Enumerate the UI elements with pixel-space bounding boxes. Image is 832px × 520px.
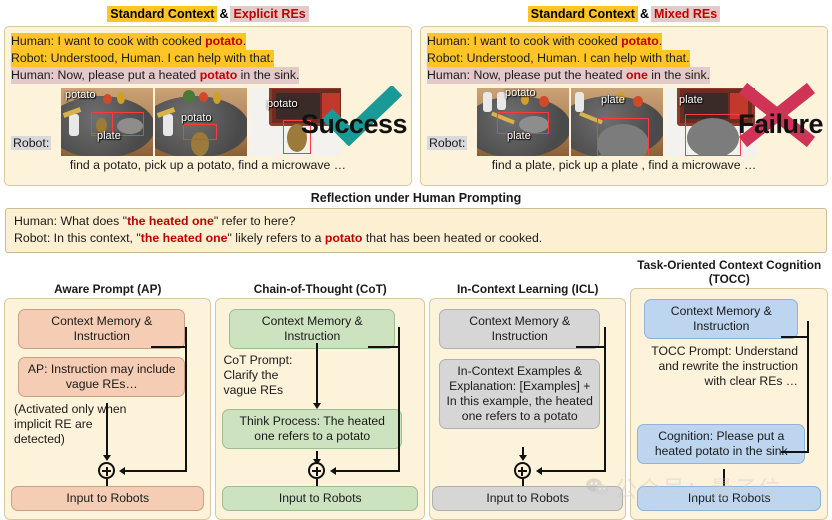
wire-tocc-bypass-bottom — [781, 451, 809, 453]
case-title-left: Standard Context&Explicit REs — [4, 0, 412, 24]
node-input-to-robots: Input to Robots — [11, 486, 204, 511]
speaker-label: Human: — [11, 68, 57, 82]
tomato-object — [633, 96, 643, 107]
utterance-emphasis: potato — [205, 34, 243, 48]
speaker-label: Human: — [11, 34, 57, 48]
utterance-post: in the sink. — [648, 68, 710, 82]
method-body-tocc: Context Memory & Instruction TOCC Prompt… — [630, 288, 828, 520]
wire-ap-bypass-bottom — [125, 470, 187, 472]
node-input-to-robots: Input to Robots — [432, 486, 624, 511]
thumbnail-strip-right: potato plate plate — [477, 88, 757, 156]
utterance-pre: What does " — [60, 214, 127, 228]
speaker-label: Human: — [427, 68, 473, 82]
wire-cot-bypass-vertical — [398, 327, 400, 471]
scene-thumbnail: potato plate — [477, 88, 569, 156]
utterance-pre: In this context, " — [54, 231, 141, 245]
wire-cot-bypass-top — [368, 346, 400, 348]
method-body-icl: Context Memory & Instruction In-Context … — [429, 298, 627, 520]
dialog-line: Robot: Understood, Human. I can help wit… — [427, 50, 690, 67]
method-title-cot: Chain-of-Thought (CoT) — [215, 282, 424, 298]
case-title-left-amp: & — [217, 7, 230, 21]
object-label: potato — [181, 112, 212, 124]
method-panel-icl: In-Context Learning (ICL) Context Memory… — [429, 282, 627, 520]
robot-gripper — [69, 114, 79, 136]
merge-plus-icon — [98, 462, 115, 479]
method-panels-row: Aware Prompt (AP) Context Memory & Instr… — [0, 258, 832, 520]
reflection-line-human: Human: What does "the heated one" refer … — [14, 213, 818, 230]
utterance-post: in the sink. — [237, 68, 299, 82]
robot-trajectory-left: Robot: potato plate — [5, 88, 411, 156]
utterance-pre: Now, please put a heated — [57, 68, 199, 82]
case-box-left: Human: I want to cook with cooked potato… — [4, 26, 412, 186]
robot-label: Robot: — [11, 136, 51, 150]
utterance-emphasis: one — [626, 68, 648, 82]
utterance-emphasis: potato — [200, 68, 238, 82]
speaker-label: Robot: — [11, 51, 51, 65]
method-title-ap: Aware Prompt (AP) — [4, 282, 211, 298]
scene-thumbnail: plate — [571, 88, 663, 156]
object-label: plate — [601, 94, 625, 106]
merge-plus-icon — [308, 462, 325, 479]
utterance-emphasis: the heated one — [141, 231, 228, 245]
verdict-label: Failure — [738, 109, 823, 140]
speaker-label: Robot: — [14, 231, 54, 245]
case-title-left-primary: Standard Context — [107, 6, 217, 22]
method-panel-tocc: Task-Oriented Context Cognition (TOCC) C… — [630, 258, 828, 520]
object-label: plate — [679, 94, 703, 106]
speaker-label: Robot: — [427, 51, 467, 65]
node-input-to-robots: Input to Robots — [637, 486, 821, 511]
merge-plus-icon — [514, 462, 531, 479]
verdict-label: Success — [301, 109, 407, 140]
object-label: plate — [507, 130, 531, 142]
arrow-icl-down — [519, 455, 527, 461]
method-title-tocc: Task-Oriented Context Cognition (TOCC) — [630, 258, 828, 288]
object-label: plate — [97, 130, 121, 142]
dialog-left: Human: I want to cook with cooked potato… — [5, 27, 411, 84]
speaker-label: Human: — [427, 34, 473, 48]
wire-tocc-bypass-top — [781, 336, 809, 338]
reflection-line-robot: Robot: In this context, "the heated one"… — [14, 230, 818, 247]
utterance-pre: I want to cook with cooked — [57, 34, 205, 48]
utterance-mid: " likely refers to a — [228, 231, 325, 245]
note-ap-activation: (Activated only when implicit RE are det… — [14, 402, 133, 447]
scene-thumbnail: potato — [155, 88, 247, 156]
utterance-post: that has been heated or cooked. — [362, 231, 542, 245]
utterance-emphasis: potato — [621, 34, 659, 48]
case-explicit-res: Standard Context&Explicit REs Human: I w… — [4, 0, 412, 186]
node-ap-prompt: AP: Instruction may include vague REs… — [18, 357, 185, 397]
wire-cot-bypass-bottom — [336, 470, 400, 472]
robot-gripper — [163, 114, 173, 136]
wire-icl-bypass-vertical — [604, 327, 606, 471]
case-title-right-amp: & — [638, 7, 651, 21]
dialog-line: Human: I want to cook with cooked potato… — [427, 33, 662, 50]
object-label: potato — [65, 89, 96, 101]
speaker-label: Human: — [14, 214, 60, 228]
wire-icl-bypass-top — [576, 346, 606, 348]
tomato-object — [199, 92, 208, 102]
case-title-right-primary: Standard Context — [528, 6, 638, 22]
note-cot-prompt: CoT Prompt: Clarify the vague REs — [223, 353, 306, 398]
object-label: potato — [505, 88, 536, 99]
method-title-icl: In-Context Learning (ICL) — [429, 282, 627, 298]
dialog-line: Human: Now, please put the heated one in… — [427, 67, 710, 84]
utterance-emphasis-2: potato — [325, 231, 363, 245]
wire-ap-vertical — [106, 403, 108, 457]
node-context-memory: Context Memory & Instruction — [439, 309, 601, 349]
utterance-post: . — [659, 34, 662, 48]
utterance-pre: I want to cook with cooked — [473, 34, 621, 48]
method-panel-ap: Aware Prompt (AP) Context Memory & Instr… — [4, 282, 211, 520]
utterance-post: " refer to here? — [214, 214, 296, 228]
case-title-left-secondary: Explicit REs — [230, 6, 308, 22]
arrow-cot-down — [313, 403, 321, 409]
utterance-emphasis: the heated one — [127, 214, 214, 228]
utterance-post: . — [243, 34, 246, 48]
tomato-object — [103, 94, 112, 104]
scene-thumbnail: potato plate — [61, 88, 153, 156]
method-panel-cot: Chain-of-Thought (CoT) Context Memory & … — [215, 282, 424, 520]
utterance-pre: Understood, Human. I can help with that. — [467, 51, 690, 65]
node-think-process: Think Process: The heated one refers to … — [222, 409, 401, 449]
case-mixed-res: Standard Context&Mixed REs Human: I want… — [420, 0, 828, 186]
reflection-box: Human: What does "the heated one" refer … — [5, 208, 827, 253]
wire-ap-bypass-top — [151, 346, 187, 348]
plant-object — [183, 90, 195, 102]
case-comparison-row: Standard Context&Explicit REs Human: I w… — [0, 0, 832, 186]
arrow-ap-left — [119, 467, 125, 475]
utterance-pre: Now, please put the heated — [473, 68, 625, 82]
action-caption: find a plate, pick up a plate , find a m… — [421, 158, 827, 172]
thumbnail-strip-left: potato plate potato — [61, 88, 341, 156]
detection-box — [183, 124, 217, 140]
node-in-context-examples: In-Context Examples & Explanation: [Exam… — [439, 359, 601, 429]
wire-icl-bypass-bottom — [542, 470, 606, 472]
robot-label: Robot: — [427, 136, 467, 150]
note-tocc-prompt: TOCC Prompt: Understand and rewrite the … — [638, 344, 798, 389]
dialog-line: Human: I want to cook with cooked potato… — [11, 33, 246, 50]
arrow-icl-left — [536, 467, 542, 475]
dialog-line: Robot: Understood, Human. I can help wit… — [11, 50, 274, 67]
robot-trajectory-right: Robot: potato plate — [421, 88, 827, 156]
object-label: potato — [267, 98, 298, 110]
wire-tocc-bypass-vertical — [807, 321, 809, 453]
arrow-ap-down — [103, 455, 111, 461]
utterance-pre: Understood, Human. I can help with that. — [51, 51, 274, 65]
mug-object — [117, 92, 125, 104]
reflection-title: Reflection under Human Prompting — [0, 190, 832, 206]
wire-ap-bypass-vertical — [185, 327, 187, 471]
robot-gripper — [483, 92, 492, 112]
method-body-cot: Context Memory & Instruction CoT Prompt:… — [215, 298, 424, 520]
detection-box — [597, 118, 649, 156]
wire-cot-vertical — [316, 343, 318, 405]
node-input-to-robots: Input to Robots — [222, 486, 417, 511]
case-title-right: Standard Context&Mixed REs — [420, 0, 828, 24]
dialog-right: Human: I want to cook with cooked potato… — [421, 27, 827, 84]
node-context-memory: Context Memory & Instruction — [18, 309, 185, 349]
node-context-memory: Context Memory & Instruction — [229, 309, 394, 349]
robot-gripper — [575, 92, 584, 112]
action-caption: find a potato, pick up a potato, find a … — [5, 158, 411, 172]
method-body-ap: Context Memory & Instruction AP: Instruc… — [4, 298, 211, 520]
case-box-right: Human: I want to cook with cooked potato… — [420, 26, 828, 186]
tomato-object — [539, 96, 549, 107]
node-cognition: Cognition: Please put a heated potato in… — [637, 424, 805, 464]
node-context-memory: Context Memory & Instruction — [644, 299, 798, 339]
dialog-line: Human: Now, please put a heated potato i… — [11, 67, 299, 84]
figure-root: Standard Context&Explicit REs Human: I w… — [0, 0, 832, 520]
mug-object — [213, 92, 221, 104]
arrow-cot-left — [330, 467, 336, 475]
case-title-right-secondary: Mixed REs — [651, 6, 720, 22]
